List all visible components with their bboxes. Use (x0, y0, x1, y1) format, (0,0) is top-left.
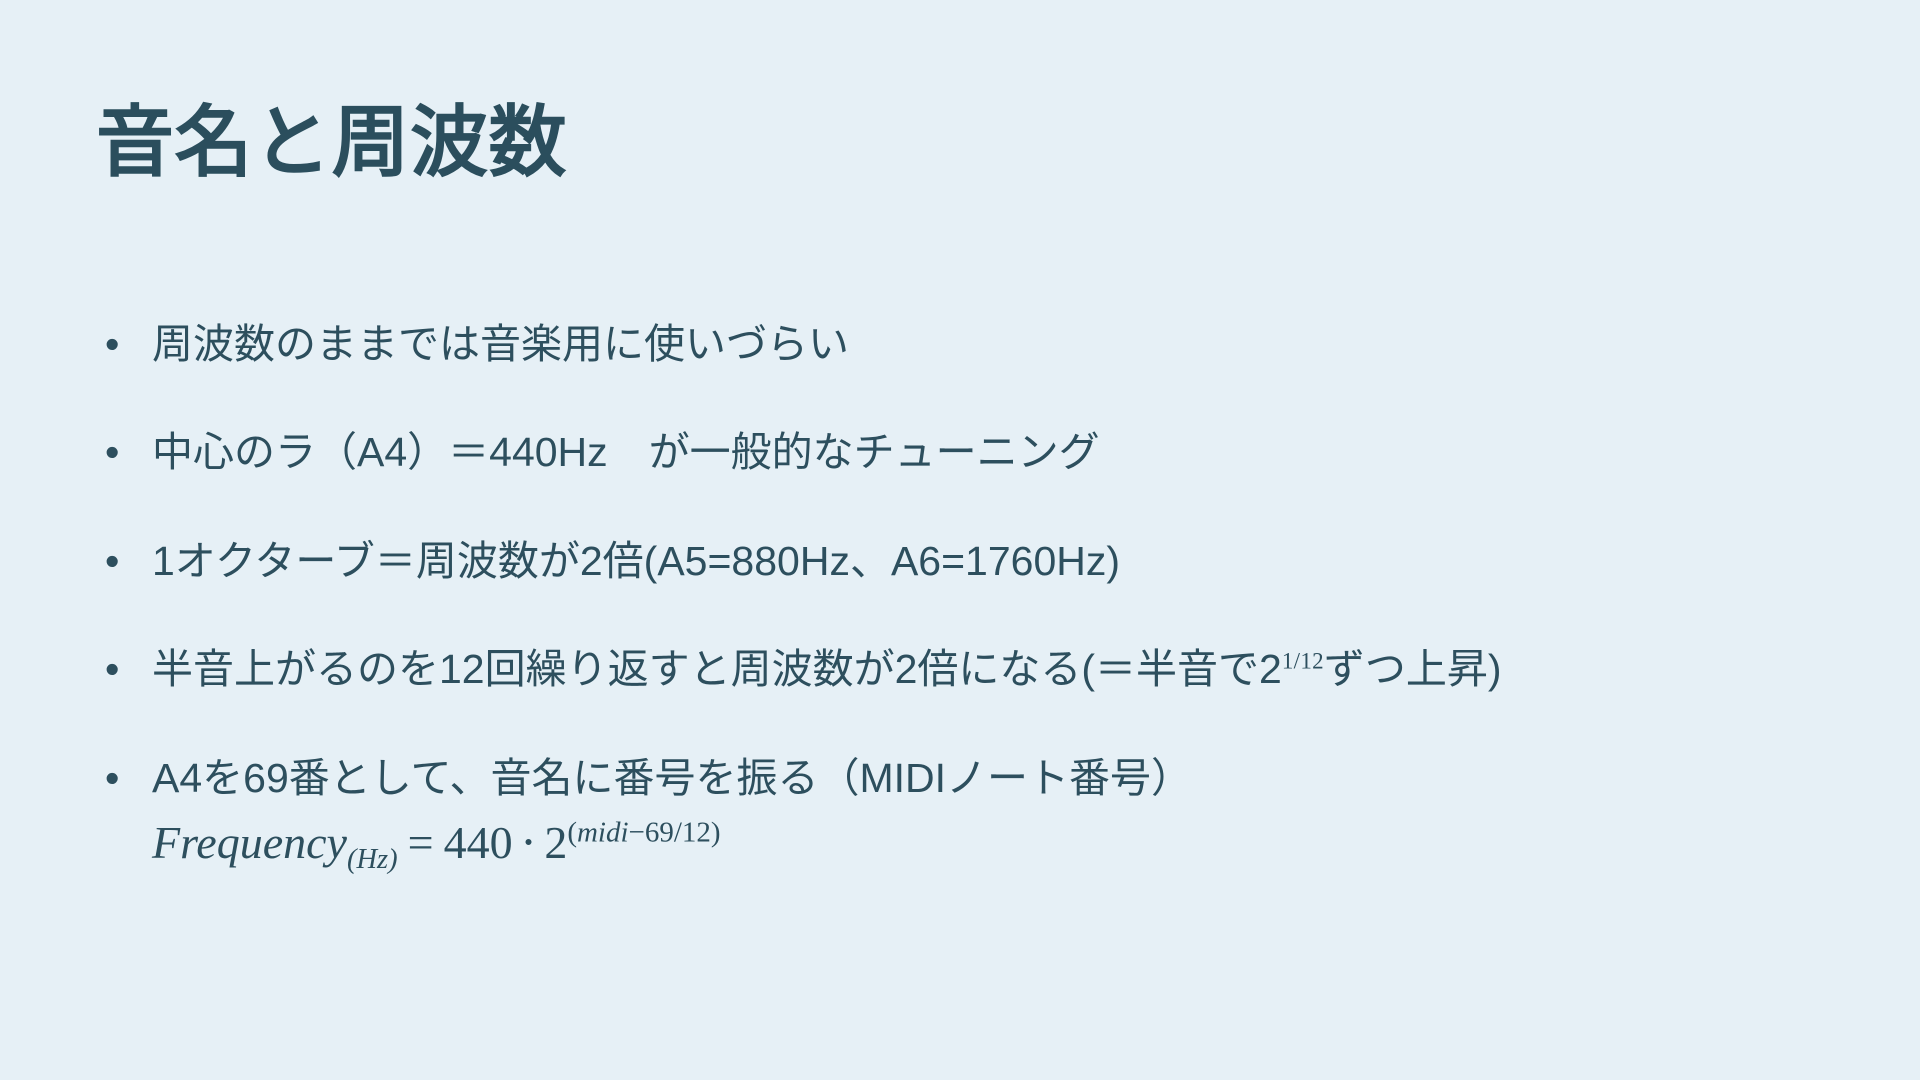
formula-exponent-minus: − (629, 817, 645, 849)
bullet-list: • 周波数のままでは音楽用に使いづらい • 中心のラ（A4）＝440Hz が一般… (96, 318, 1836, 869)
formula-exponent-variable: midi (577, 817, 629, 849)
formula-multiply: ⋅ (513, 817, 545, 868)
bullet-marker-icon: • (105, 535, 119, 587)
formula-lhs-name: Frequency (152, 817, 347, 868)
bullet-text-after-superscript: ずつ上昇) (1324, 646, 1502, 692)
formula-equals: = (398, 817, 444, 868)
list-item: • 1オクターブ＝周波数が2倍(A5=880Hz、A6=1760Hz) (96, 535, 1836, 587)
bullet-text: A4を69番として、音名に番号を振る（MIDIノート番号） (152, 755, 1192, 801)
bullet-marker-icon: • (105, 426, 119, 478)
list-item: • 周波数のままでは音楽用に使いづらい (96, 318, 1836, 370)
formula-base: 2 (544, 817, 567, 868)
bullet-marker-icon: • (105, 318, 119, 370)
bullet-text: 周波数のままでは音楽用に使いづらい (152, 321, 849, 367)
formula-exponent-open-paren: ( (567, 817, 577, 849)
list-item: • 中心のラ（A4）＝440Hz が一般的なチューニング (96, 426, 1836, 478)
formula-exponent-close-paren: ) (711, 817, 721, 849)
bullet-text: 中心のラ（A4）＝440Hz が一般的なチューニング (152, 429, 1100, 475)
bullet-text-before-superscript: 半音上がるのを12回繰り返すと周波数が2倍になる(＝半音で2 (152, 646, 1282, 692)
page-title: 音名と周波数 (96, 98, 567, 188)
formula-coefficient: 440 (444, 817, 513, 868)
slide: 音名と周波数 • 周波数のままでは音楽用に使いづらい • 中心のラ（A4）＝44… (0, 0, 1920, 1080)
midi-frequency-formula: Frequency(Hz)=440⋅2(midi−69/12) (152, 818, 1836, 869)
bullet-marker-icon: • (105, 643, 119, 695)
formula-lhs-subscript: (Hz) (347, 845, 398, 876)
list-item: • A4を69番として、音名に番号を振る（MIDIノート番号） Frequenc… (96, 752, 1836, 869)
formula-exponent: (midi−69/12) (567, 817, 720, 849)
list-item: • 半音上がるのを12回繰り返すと周波数が2倍になる(＝半音で21/12ずつ上昇… (96, 643, 1836, 695)
bullet-text: 1オクターブ＝周波数が2倍(A5=880Hz、A6=1760Hz) (152, 538, 1120, 584)
formula-exponent-number: 69/12 (645, 817, 711, 849)
bullet-marker-icon: • (105, 752, 119, 804)
superscript-exponent: 1/12 (1282, 649, 1324, 674)
